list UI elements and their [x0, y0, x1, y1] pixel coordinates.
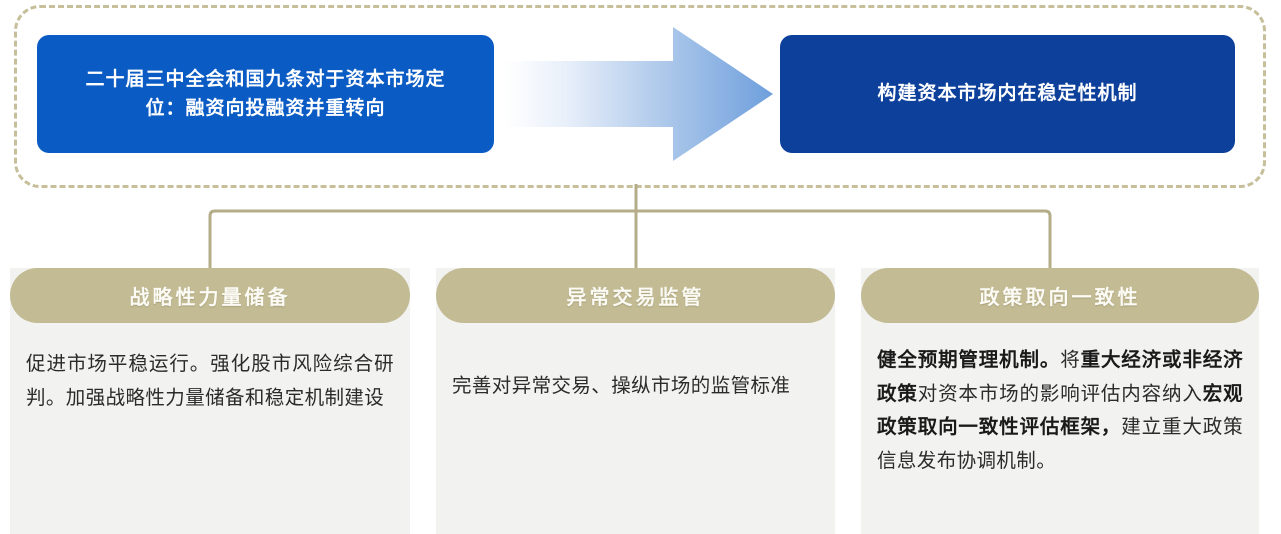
card-body: 健全预期管理机制。将重大经济或非经济政策对资本市场的影响评估内容纳入宏观政策取向…	[861, 323, 1259, 477]
card-body-run: 将	[1060, 348, 1080, 371]
target-concept-box: 构建资本市场内在稳定性机制	[780, 35, 1235, 153]
card-body: 完善对异常交易、操纵市场的监管标准	[436, 323, 835, 403]
card-policy-consistency: 政策取向一致性 健全预期管理机制。将重大经济或非经济政策对资本市场的影响评估内容…	[861, 268, 1259, 534]
card-body-run: 对资本市场的影响评估内容纳入	[918, 382, 1203, 405]
connector-lines	[0, 184, 1281, 280]
card-body-run: 健全预期管理机制。	[877, 348, 1060, 371]
card-body-run: 促进市场平稳运行。强化股市风险综合研判。加强战略性力量储备和稳定机制建设	[26, 352, 394, 409]
card-abnormal-trading-supervision: 异常交易监管 完善对异常交易、操纵市场的监管标准	[436, 268, 835, 534]
diagram-root: 二十届三中全会和国九条对于资本市场定 位：融资向投融资并重转向 构建资本市场内在…	[0, 0, 1281, 534]
card-body: 促进市场平稳运行。强化股市风险综合研判。加强战略性力量储备和稳定机制建设	[10, 323, 410, 414]
source-concept-box: 二十届三中全会和国九条对于资本市场定 位：融资向投融资并重转向	[37, 35, 494, 153]
card-strategic-reserve: 战略性力量储备 促进市场平稳运行。强化股市风险综合研判。加强战略性力量储备和稳定…	[10, 268, 410, 534]
right-arrow-icon	[505, 27, 773, 161]
source-concept-text: 二十届三中全会和国九条对于资本市场定 位：融资向投融资并重转向	[85, 65, 445, 124]
card-body-run: 完善对异常交易、操纵市场的监管标准	[452, 374, 790, 397]
source-concept-line-1: 二十届三中全会和国九条对于资本市场定	[85, 65, 445, 94]
source-concept-line-2: 位：融资向投融资并重转向	[85, 94, 445, 123]
target-concept-text: 构建资本市场内在稳定性机制	[877, 79, 1137, 108]
